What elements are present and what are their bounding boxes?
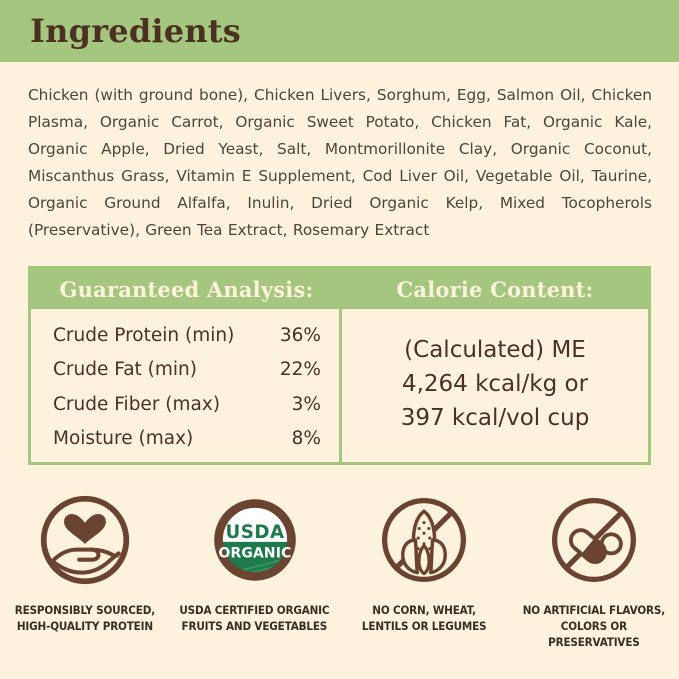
page-title: Ingredients xyxy=(30,12,241,50)
guaranteed-analysis-heading: Guaranteed Analysis: xyxy=(31,269,342,309)
table-row: Crude Fat (min) 22% xyxy=(53,359,321,380)
panel-header-row: Guaranteed Analysis: Calorie Content: xyxy=(31,269,648,309)
badge-no-artificial-additives: NO ARTIFICIAL FLAVORS, COLORS OR PRESERV… xyxy=(509,492,679,650)
ingredients-text: Chicken (with ground bone), Chicken Live… xyxy=(28,82,652,244)
badge-no-corn: NO CORN, WHEAT, LENTILS OR LEGUMES xyxy=(340,492,510,650)
badge-caption-line: COLORS OR PRESERVATIVES xyxy=(548,619,640,649)
usda-organic-seal-icon: USDA ORGANIC xyxy=(207,492,303,588)
guaranteed-analysis-table: Crude Protein (min) 36% Crude Fat (min) … xyxy=(31,309,342,462)
panel-body-row: Crude Protein (min) 36% Crude Fat (min) … xyxy=(31,309,648,462)
badge-caption: NO CORN, WHEAT, LENTILS OR LEGUMES xyxy=(362,602,486,634)
badge-caption-line: NO ARTIFICIAL FLAVORS, xyxy=(523,603,665,617)
badge-caption-line: FRUITS AND VEGETABLES xyxy=(182,619,328,633)
analysis-nutrient-value: 8% xyxy=(292,428,321,449)
table-row: Moisture (max) 8% xyxy=(53,428,321,449)
analysis-nutrient-name: Crude Fiber (max) xyxy=(53,394,220,415)
badge-caption: RESPONSIBLY SOURCED, HIGH-QUALITY PROTEI… xyxy=(15,602,155,634)
badge-caption: USDA CERTIFIED ORGANIC FRUITS AND VEGETA… xyxy=(180,602,330,634)
no-artificial-additives-icon xyxy=(546,492,642,588)
table-row: Crude Protein (min) 36% xyxy=(53,325,321,346)
usda-seal-bottom-text: ORGANIC xyxy=(218,545,291,561)
badge-caption-line: LENTILS OR LEGUMES xyxy=(362,619,486,633)
badge-caption-line: USDA CERTIFIED ORGANIC xyxy=(180,603,330,617)
badge-caption: NO ARTIFICIAL FLAVORS, COLORS OR PRESERV… xyxy=(518,602,671,650)
analysis-nutrient-value: 22% xyxy=(280,359,321,380)
ingredients-label-card: Ingredients Chicken (with ground bone), … xyxy=(0,0,679,679)
calorie-line: (Calculated) ME xyxy=(404,333,586,367)
calorie-line: 397 kcal/vol cup xyxy=(401,401,590,435)
usda-seal-top-text: USDA xyxy=(225,522,285,543)
badge-row: RESPONSIBLY SOURCED, HIGH-QUALITY PROTEI… xyxy=(0,492,679,650)
badge-responsibly-sourced: RESPONSIBLY SOURCED, HIGH-QUALITY PROTEI… xyxy=(0,492,170,650)
badge-usda-organic: USDA ORGANIC USDA CERTIFIED ORGANIC FRUI… xyxy=(170,492,340,650)
table-row: Crude Fiber (max) 3% xyxy=(53,394,321,415)
calorie-content-heading: Calorie Content: xyxy=(342,269,648,309)
analysis-nutrient-name: Crude Protein (min) xyxy=(53,325,234,346)
nutrition-panel: Guaranteed Analysis: Calorie Content: Cr… xyxy=(28,266,651,465)
analysis-nutrient-value: 3% xyxy=(292,394,321,415)
calorie-content-values: (Calculated) ME 4,264 kcal/kg or 397 kca… xyxy=(342,309,648,462)
heart-in-hand-icon xyxy=(37,492,133,588)
badge-caption-line: HIGH-QUALITY PROTEIN xyxy=(17,619,153,633)
calorie-line: 4,264 kcal/kg or xyxy=(402,367,588,401)
analysis-nutrient-name: Crude Fat (min) xyxy=(53,359,197,380)
analysis-nutrient-value: 36% xyxy=(280,325,321,346)
badge-caption-line: RESPONSIBLY SOURCED, xyxy=(15,603,155,617)
badge-caption-line: NO CORN, WHEAT, xyxy=(373,603,477,617)
analysis-nutrient-name: Moisture (max) xyxy=(53,428,193,449)
header-band: Ingredients xyxy=(0,0,679,62)
ingredients-section: Chicken (with ground bone), Chicken Live… xyxy=(0,62,679,244)
no-corn-icon xyxy=(376,492,472,588)
